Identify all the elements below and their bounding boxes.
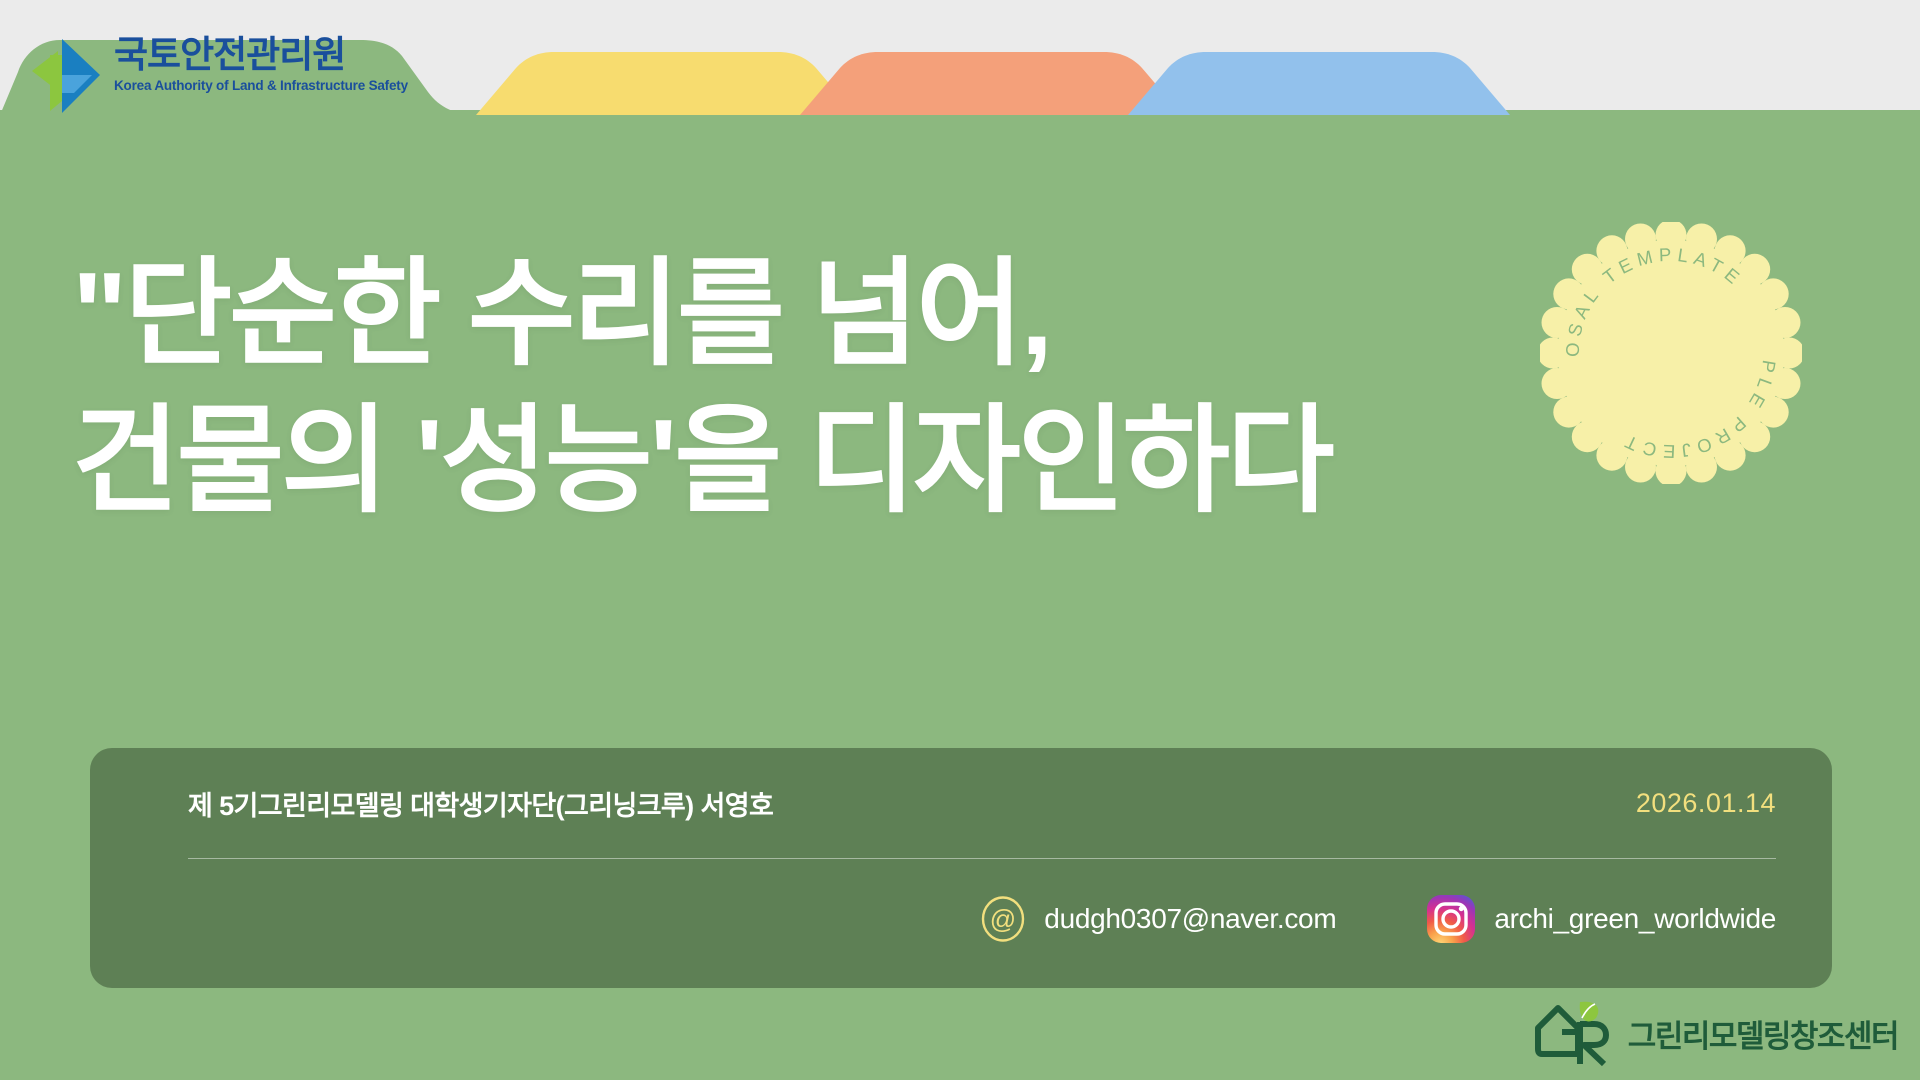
proposal-seal-badge: PROPOSAL TEMPLATE SIMPLE PROJECT: [1540, 222, 1802, 484]
contact-email-label: dudgh0307@naver.com: [1044, 903, 1336, 935]
tab-blue-shape: [1128, 52, 1510, 115]
svg-text:@: @: [990, 904, 1016, 934]
instagram-icon: [1426, 894, 1476, 944]
presenter-row: 제 5기그린리모델링 대학생기자단(그리닝크루) 서영호 2026.01.14: [138, 748, 1784, 858]
brand-logo: 국토안전관리원 Korea Authority of Land & Infras…: [28, 33, 458, 125]
tab-orange-shape: [800, 52, 1182, 115]
presentation-date: 2026.01.14: [1636, 788, 1776, 819]
tab-yellow-shape: [476, 52, 856, 115]
headline-line-1: "단순한 수리를 넘어,: [72, 248, 1050, 379]
slide-canvas: 국토안전관리원 Korea Authority of Land & Infras…: [0, 0, 1920, 1080]
contact-instagram-label: archi_green_worldwide: [1494, 903, 1776, 935]
contact-instagram[interactable]: archi_green_worldwide: [1426, 894, 1776, 944]
page-title: "단순한 수리를 넘어, 건물의 '성능'을 디자인하다: [72, 240, 1332, 535]
headline-line-2: 건물의 '성능'을 디자인하다: [72, 387, 1332, 534]
brand-name-en: Korea Authority of Land & Infrastructure…: [114, 78, 408, 93]
gr-house-leaf-icon: [1532, 998, 1618, 1068]
presenter-name: 제 5기그린리모델링 대학생기자단(그리닝크루) 서영호: [188, 784, 773, 823]
partner-logo: 그린리모델링창조센터: [1532, 994, 1898, 1072]
contact-row: @ dudgh0307@naver.com: [138, 859, 1784, 979]
partner-name: 그린리모델링창조센터: [1628, 1011, 1898, 1056]
at-email-icon: @: [980, 896, 1026, 942]
brand-name-kr: 국토안전관리원: [114, 36, 408, 75]
presenter-info-card: 제 5기그린리모델링 대학생기자단(그리닝크루) 서영호 2026.01.14 …: [90, 748, 1832, 988]
kalis-arrow-logo-icon: [28, 33, 104, 115]
contact-email[interactable]: @ dudgh0307@naver.com: [980, 896, 1336, 942]
